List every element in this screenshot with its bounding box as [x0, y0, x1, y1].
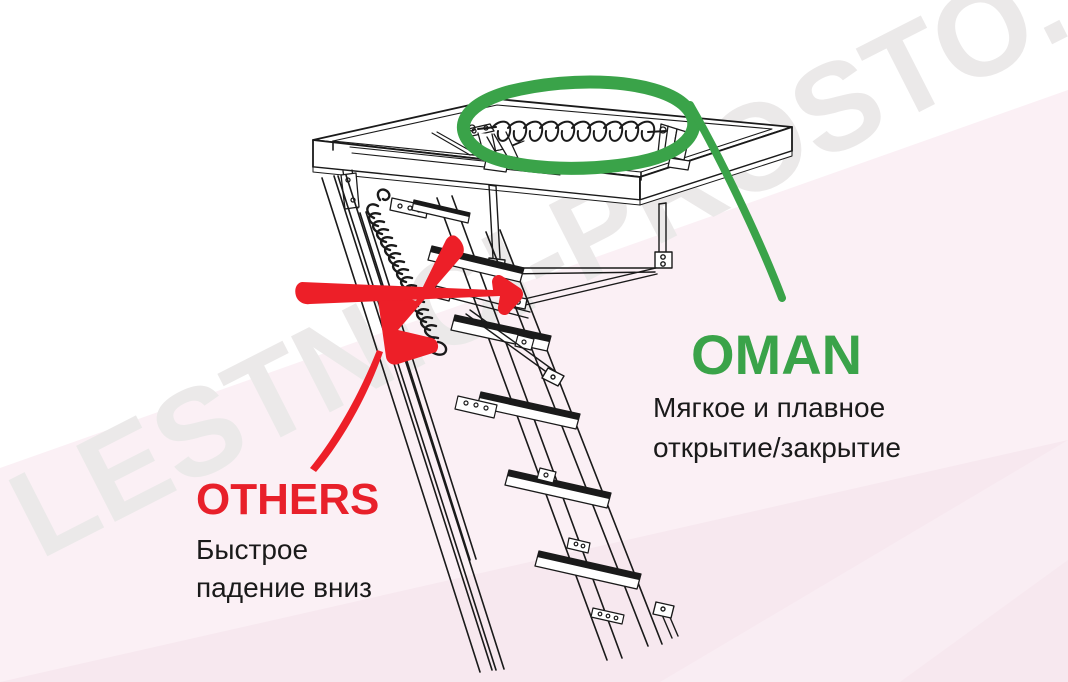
red-leader-tail — [310, 350, 383, 472]
red-annotation — [0, 0, 1068, 682]
infographic-canvas: LESTNICI-PROSTO.RU — [0, 0, 1068, 682]
